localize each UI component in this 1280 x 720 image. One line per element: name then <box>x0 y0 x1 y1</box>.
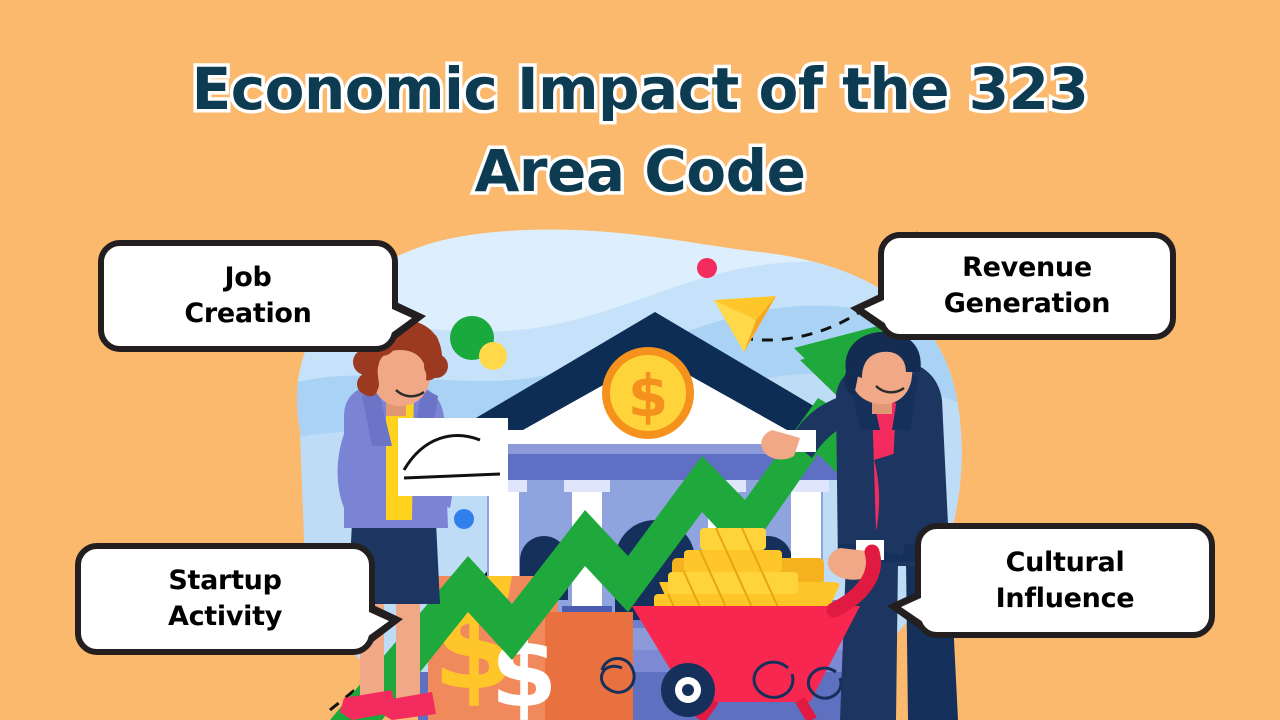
dollar-coin: $ <box>602 347 694 439</box>
svg-text:$: $ <box>628 362 668 430</box>
callout-job-creation-label: Job Creation <box>170 260 325 331</box>
pink-dot-decoration <box>697 258 717 278</box>
callout-cultural-influence-label: Cultural Influence <box>982 545 1149 616</box>
blue-dot-decoration <box>454 509 474 529</box>
callout-cultural-influence[interactable]: Cultural Influence <box>915 523 1215 638</box>
callout-revenue-generation-label: Revenue Generation <box>930 250 1124 321</box>
callout-tail-inner <box>390 308 412 334</box>
chart-paper <box>398 418 508 496</box>
callout-tail-inner <box>367 611 389 637</box>
callout-tail-inner <box>864 299 886 324</box>
callout-revenue-generation[interactable]: Revenue Generation <box>878 232 1176 340</box>
callout-startup-activity-label: Startup Activity <box>154 563 296 634</box>
callout-job-creation[interactable]: Job Creation <box>98 240 398 352</box>
callout-startup-activity[interactable]: Startup Activity <box>75 543 375 655</box>
yellow-circle-decoration <box>479 342 507 370</box>
callout-tail-inner <box>901 597 923 622</box>
